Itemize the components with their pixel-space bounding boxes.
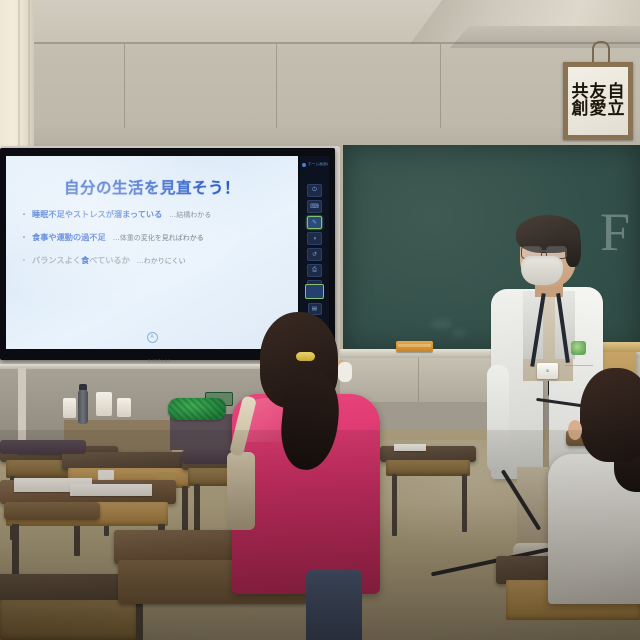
chalkboard-eraser[interactable] — [396, 341, 433, 352]
bullet-note: …結構わかる — [169, 210, 211, 220]
bullet-marker: ・ — [20, 234, 28, 242]
bullet-text-highlight: 食 — [81, 255, 89, 265]
display-stand-left — [18, 368, 26, 440]
coat-logo-icon — [571, 341, 586, 355]
classroom-scene: 自 立 友 愛 共 創 F 自分の生活を見直そ — [0, 0, 640, 640]
glasses-bridge — [539, 250, 546, 252]
student-right-figure[interactable] — [548, 368, 640, 640]
status-dot — [302, 163, 306, 167]
water-bottle[interactable] — [78, 390, 88, 424]
bag-strap — [227, 452, 255, 530]
bullet-marker: ・ — [20, 257, 28, 265]
power-icon[interactable]: ⏻ — [307, 184, 322, 197]
student-front-figure[interactable] — [222, 312, 382, 640]
bullet-text: バランスよく食べているか — [32, 254, 130, 266]
curtain-fold — [28, 0, 30, 150]
wall-rail — [0, 42, 640, 44]
display-status-text: ホーム画面に戻る — [308, 162, 328, 167]
paper-cup[interactable] — [117, 398, 131, 417]
chalk-smudge — [452, 330, 466, 336]
hair-side — [565, 229, 581, 267]
paper-cup[interactable] — [63, 398, 76, 418]
green-mesh-bag[interactable] — [168, 398, 226, 420]
curtain-fold — [18, 0, 20, 150]
bullet-text-after: べているか — [89, 255, 130, 265]
plaque-column-1: 自 立 — [608, 84, 625, 119]
student-right-ear — [568, 420, 582, 440]
capture-icon[interactable]: ⎙ — [307, 264, 322, 277]
pen-icon[interactable]: ✎ — [307, 216, 322, 229]
plaque-column-2: 友 愛 — [590, 84, 607, 119]
slide-footer-mark: A — [147, 332, 158, 343]
hair-tie — [296, 352, 315, 361]
student-right-hair — [580, 368, 640, 462]
bullet-text: 睡眠不足やストレスが溜まっている — [32, 208, 162, 220]
chalk-smudge — [430, 320, 452, 328]
plaque-char: 立 — [608, 101, 625, 118]
plaque-char: 愛 — [590, 101, 607, 118]
eraser-icon[interactable]: ◑ — [307, 232, 322, 245]
chair-back[interactable] — [4, 502, 100, 520]
paper-cup[interactable] — [96, 392, 112, 416]
bullet-text: 食事や運動の過不足 — [32, 231, 106, 243]
ceiling-beam-secondary — [450, 26, 640, 48]
bullet-marker: ・ — [20, 211, 28, 219]
wall-plaque: 自 立 友 愛 共 創 — [563, 62, 633, 140]
display-toolbar: ⏻ ⌨ ✎ ◑ ↺ ⎙ ⌕ — [302, 184, 327, 293]
student-front-jeans — [306, 570, 362, 640]
bullet-text-before: バランスよく — [32, 255, 81, 265]
face-mask — [521, 256, 563, 285]
plaque-column-3: 共 創 — [572, 84, 589, 119]
slide-bullet-2: ・ 食事や運動の過不足 …体重の変化を見ればわかる — [20, 231, 290, 243]
slide-title: 自分の生活を見直そう！ — [6, 176, 298, 198]
slide-bullet-1: ・ 睡眠不足やストレスが溜まっている …結構わかる — [20, 208, 290, 220]
slide-bullet-list: ・ 睡眠不足やストレスが溜まっている …結構わかる ・ 食事や運動の過不足 …体… — [20, 208, 290, 277]
chair-seat[interactable] — [0, 440, 86, 454]
student-front-mask — [338, 362, 352, 382]
bullet-note: …わかりにくい — [137, 256, 186, 266]
cabinet-seam — [418, 358, 419, 402]
screen-icon[interactable] — [305, 284, 324, 299]
slide-bullet-3: ・ バランスよく食べているか …わかりにくい — [20, 254, 290, 266]
display-brand-label: DISPLAY — [148, 358, 172, 363]
plaque-char: 創 — [572, 101, 589, 118]
arm-left — [487, 365, 509, 473]
undo-icon[interactable]: ↺ — [307, 248, 322, 261]
display-status-bar: ホーム画面に戻る — [302, 160, 328, 169]
keyboard-icon[interactable]: ⌨ — [307, 200, 322, 213]
bullet-note: …体重の変化を見ればわかる — [113, 233, 204, 243]
